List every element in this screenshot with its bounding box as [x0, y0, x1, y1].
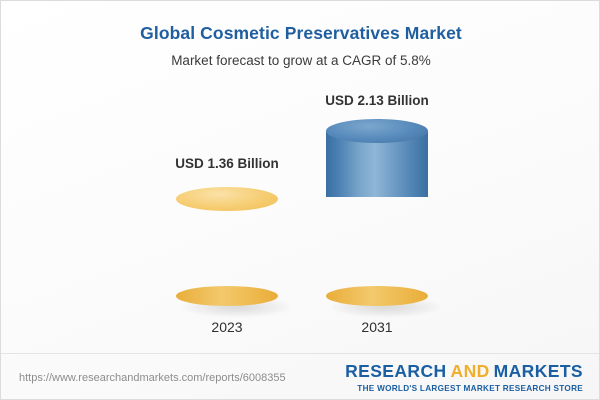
bar-value-label-2023: USD 1.36 Billion — [117, 156, 337, 171]
report-url[interactable]: https://www.researchandmarkets.com/repor… — [19, 372, 286, 384]
brand-logo-wordmark: RESEARCHANDMARKETS — [345, 363, 583, 381]
bar-cylinder-2031[interactable] — [326, 119, 428, 306]
bar-bottom-cap-2023 — [176, 286, 278, 306]
bar-top-cap-2023 — [176, 187, 278, 211]
page-title: Global Cosmetic Preservatives Market — [1, 23, 600, 44]
bar-value-label-2031: USD 2.13 Billion — [267, 93, 487, 108]
bar-bottom-cap-2031 — [326, 286, 428, 306]
bar-cylinder-2023[interactable] — [176, 187, 278, 306]
chart-subtitle: Market forecast to grow at a CAGR of 5.8… — [1, 53, 600, 68]
brand-tagline: THE WORLD'S LARGEST MARKET RESEARCH STOR… — [345, 385, 583, 393]
infographic-canvas: Global Cosmetic Preservatives Market Mar… — [0, 0, 600, 400]
bar-base-segment-2031 — [326, 197, 428, 296]
category-label-2031: 2031 — [267, 319, 487, 335]
brand-word-research: RESEARCH — [345, 361, 446, 381]
brand-word-and: AND — [451, 361, 490, 381]
footer-divider — [1, 353, 600, 354]
bar-top-cap-2031 — [326, 119, 428, 143]
brand-word-markets: MARKETS — [494, 361, 583, 381]
bar-body-2023 — [176, 199, 278, 296]
brand-logo[interactable]: RESEARCHANDMARKETS THE WORLD'S LARGEST M… — [345, 363, 583, 393]
